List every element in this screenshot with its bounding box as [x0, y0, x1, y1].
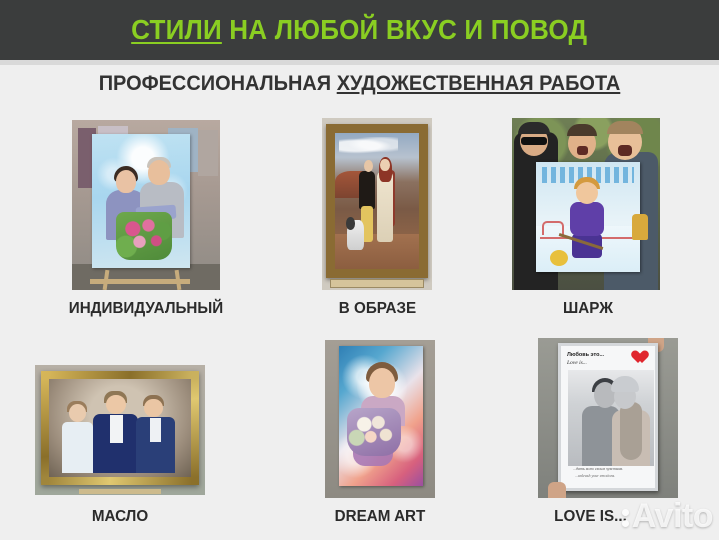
- gallery-caption-v-obraze: В ОБРАЗЕ: [304, 300, 451, 318]
- painting-canvas: [92, 134, 190, 268]
- woman-head: [369, 368, 395, 398]
- classical-painting: [335, 133, 419, 269]
- wall-picture-4: [198, 130, 218, 176]
- dog-head: [346, 217, 355, 229]
- gallery-item-dream-art-image[interactable]: [325, 340, 435, 498]
- gallery-caption-individual: ИНДИВИДУАЛЬНЫЙ: [36, 300, 256, 318]
- gallery-caption-love-is: LOVE IS...: [512, 508, 669, 526]
- poster-title-en: Love is...: [567, 360, 587, 366]
- love-is-poster: Любовь это... Love is... ...дать волю св…: [558, 343, 658, 491]
- father-head: [106, 395, 126, 415]
- gallery-item-v-obraze-image[interactable]: [322, 118, 432, 290]
- oil-painting: [49, 379, 191, 477]
- man-right-hair: [607, 121, 643, 134]
- dream-art-canvas: [339, 346, 423, 486]
- gallery-caption-sharzh: ШАРЖ: [512, 300, 664, 318]
- gallery-item-sharzh-image[interactable]: [512, 118, 660, 290]
- sky-clouds: [339, 137, 398, 155]
- poster-caption-en: ...unleash your emotions.: [575, 473, 615, 478]
- gallery-caption-dream-art: DREAM ART: [304, 508, 456, 526]
- gold-ornate-frame: [326, 124, 428, 278]
- couple-photo: [568, 370, 654, 466]
- man-head: [364, 160, 373, 172]
- man-middle-hair: [567, 124, 597, 136]
- gold-frame: [41, 371, 199, 485]
- son-head: [144, 399, 162, 418]
- bouquet-flowers: [347, 408, 401, 456]
- son-shirt: [150, 418, 161, 442]
- father-shirt: [110, 415, 123, 442]
- man-middle-mouth: [577, 146, 588, 155]
- woman-head: [380, 159, 389, 171]
- man-left-hair: [518, 122, 550, 134]
- woman-beanie: [611, 376, 639, 392]
- gallery-item-maslo-image[interactable]: [35, 365, 205, 495]
- boy-shirt: [62, 422, 93, 473]
- gallery-caption-maslo: МАСЛО: [35, 508, 206, 526]
- frame-ledge: [79, 489, 161, 494]
- poster-page: СТИЛИ НА ЛЮБОЙ ВКУС И ПОВОД ПРОФЕССИОНАЛ…: [0, 0, 719, 540]
- gallery-item-individual-image[interactable]: [72, 120, 220, 290]
- frame-plinth: [330, 279, 424, 288]
- gallery-item-love-is-image[interactable]: Любовь это... Love is... ...дать волю св…: [538, 338, 678, 498]
- man-right-mouth: [618, 145, 632, 156]
- boy-head: [69, 404, 86, 422]
- caricature-canvas: [536, 162, 640, 272]
- sunglasses-icon: [521, 137, 547, 145]
- puck-ball: [550, 250, 568, 266]
- man-head: [148, 160, 170, 185]
- player-head: [576, 182, 598, 204]
- hand-holding-bottom: [548, 482, 566, 498]
- bouquet-flowers: [116, 212, 172, 260]
- gallery-grid: ИНДИВИДУАЛЬНЫЙ: [0, 0, 719, 540]
- poster-title-ru: Любовь это...: [567, 352, 604, 358]
- heart-icon: [634, 351, 650, 365]
- player-jersey: [570, 202, 604, 236]
- trophy-icon: [632, 214, 648, 240]
- woman-hair: [620, 402, 642, 460]
- woman-head: [116, 170, 136, 193]
- poster-caption-ru: ...дать волю своим чувствам.: [573, 466, 623, 471]
- man-coat: [359, 171, 376, 209]
